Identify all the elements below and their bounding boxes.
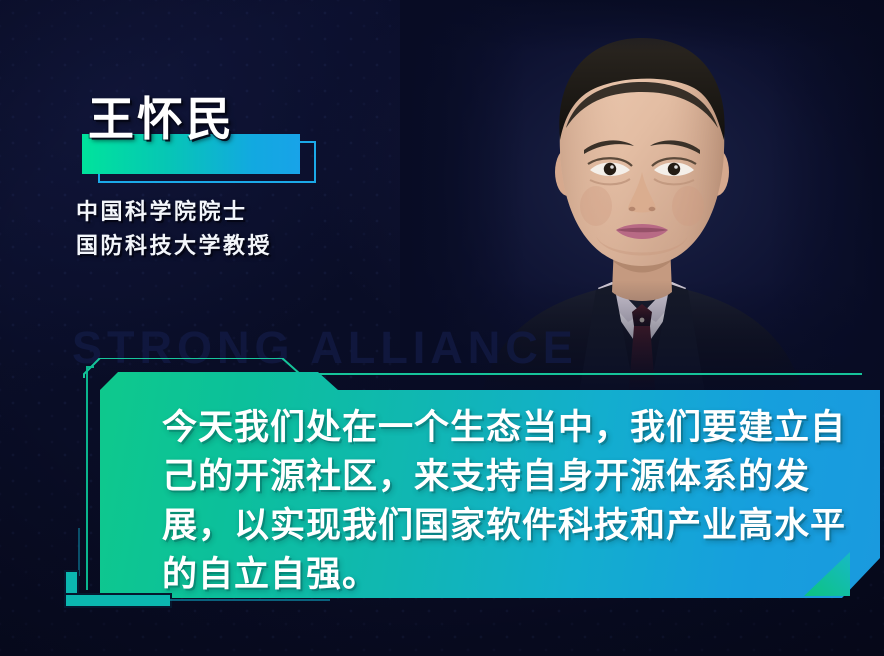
bracket-thin-vertical	[78, 528, 80, 576]
speaker-title-2: 国防科技大学教授	[76, 230, 272, 264]
quote-corner-triangle	[802, 548, 852, 598]
bracket-thin-line	[170, 599, 330, 601]
speaker-name: 王怀民	[88, 96, 235, 142]
speaker-quote-card: STRONG ALLIANCE 王怀民 中国科学院院士 国防科技大学教授 今天我…	[0, 0, 884, 656]
speaker-titles: 中国科学院院士 国防科技大学教授	[76, 196, 272, 264]
quote-panel: 今天我们处在一个生态当中，我们要建立自己的开源社区，来支持自身开源体系的发展，以…	[100, 372, 880, 598]
quote-text: 今天我们处在一个生态当中，我们要建立自己的开源社区，来支持自身开源体系的发展，以…	[162, 404, 872, 600]
bracket-horizontal	[66, 595, 170, 606]
speaker-title-1: 中国科学院院士	[76, 196, 272, 230]
name-block: 王怀民	[74, 96, 374, 196]
quote-left-trace	[86, 366, 94, 590]
decorative-corner-bracket	[66, 572, 176, 612]
quote-zone: 今天我们处在一个生态当中，我们要建立自己的开源社区，来支持自身开源体系的发展，以…	[60, 358, 884, 623]
